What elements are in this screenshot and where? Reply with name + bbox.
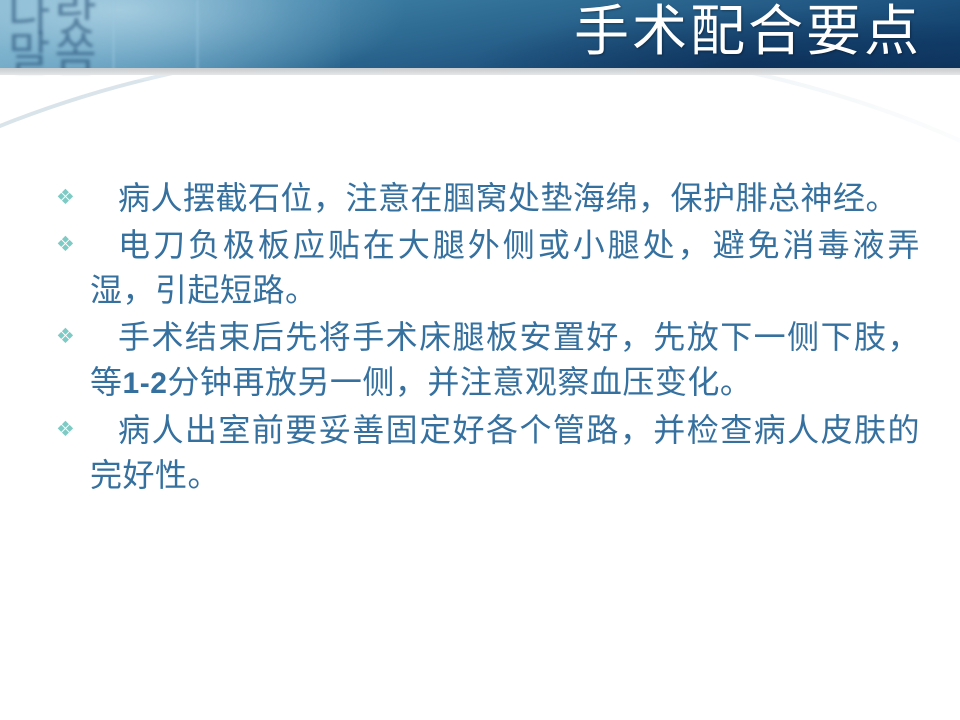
bullet-text: 手术结束后先将手术床腿板安置好，先放下一侧下肢，等1-2分钟再放另一侧，并注意观… (90, 315, 920, 406)
bullet-text: 电刀负极板应贴在大腿外侧或小腿处，避免消毒液弄湿，引起短路。 (90, 223, 920, 313)
header-vertical-rule-right (196, 0, 199, 72)
bullet-item: ❖ 病人摆截石位，注意在腘窝处垫海绵，保护腓总神经。 (56, 176, 920, 221)
slide-title: 手术配合要点 (574, 1, 922, 63)
bullet-item: ❖ 电刀负极板应贴在大腿外侧或小腿处，避免消毒液弄湿，引起短路。 (56, 223, 920, 313)
bullet-text: 病人摆截石位，注意在腘窝处垫海绵，保护腓总神经。 (90, 176, 920, 221)
bullet-text: 病人出室前要妥善固定好各个管路，并检查病人皮肤的完好性。 (90, 408, 920, 498)
presentation-slide: 나랏 말쏨 手术配合要点 ❖ 病人摆截石位，注意在腘窝处垫海绵，保护腓总神经。 … (0, 0, 960, 720)
bullet-text-after: 分钟再放另一侧，并注意观察血压变化。 (167, 364, 752, 400)
diamond-bullet-icon: ❖ (56, 408, 90, 440)
diamond-bullet-icon: ❖ (56, 176, 90, 208)
diamond-bullet-icon: ❖ (56, 315, 90, 347)
slide-body: ❖ 病人摆截石位，注意在腘窝处垫海绵，保护腓总神经。 ❖ 电刀负极板应贴在大腿外… (56, 176, 920, 500)
korean-calligraphy-decoration: 나랏 말쏨 (8, 0, 228, 114)
header-vertical-rule-left (112, 0, 115, 72)
bullet-text-emphasis: 1-2 (123, 367, 168, 400)
diamond-bullet-icon: ❖ (56, 223, 90, 255)
bullet-item: ❖ 病人出室前要妥善固定好各个管路，并检查病人皮肤的完好性。 (56, 408, 920, 498)
bullet-item: ❖ 手术结束后先将手术床腿板安置好，先放下一侧下肢，等1-2分钟再放另一侧，并注… (56, 315, 920, 406)
header-gray-strip (0, 68, 960, 75)
